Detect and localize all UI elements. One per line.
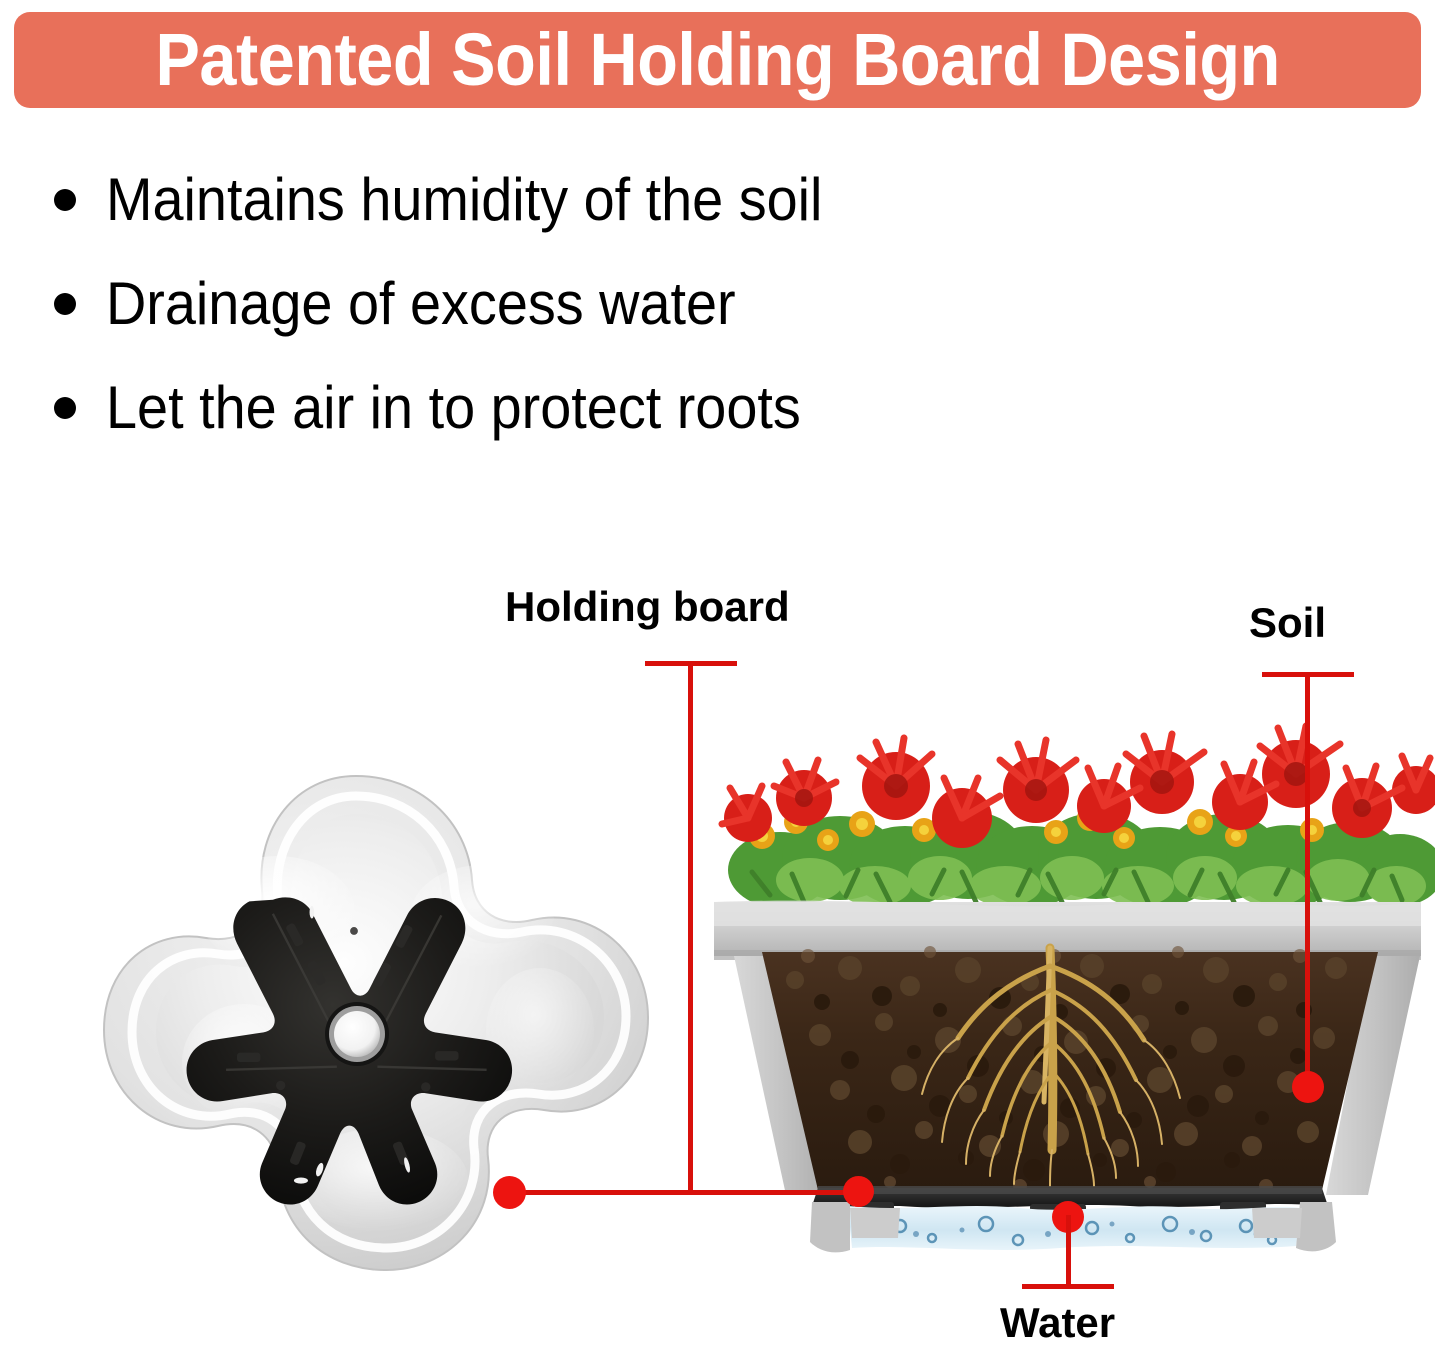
water-leader-tbar — [1022, 1284, 1114, 1289]
page-title: Patented Soil Holding Board Design — [155, 20, 1279, 100]
list-item: Maintains humidity of the soil — [40, 148, 1140, 252]
holding-board-marker-dot-right — [843, 1176, 874, 1207]
header-banner: Patented Soil Holding Board Design — [14, 12, 1421, 108]
list-item: Drainage of excess water — [40, 252, 1140, 356]
soil-marker-dot — [1292, 1071, 1324, 1103]
water-leader-vertical — [1066, 1215, 1071, 1287]
bullet-text: Maintains humidity of the soil — [106, 168, 822, 232]
list-item: Let the air in to protect roots — [40, 356, 1140, 460]
planter-top-view-image — [52, 762, 660, 1318]
drain-hole — [334, 1011, 380, 1057]
pot-base-foot-left — [850, 1208, 900, 1238]
callout-label-soil: Soil — [1249, 600, 1326, 646]
bullet-dot-icon — [54, 293, 76, 315]
holding-board-leader-vertical — [688, 661, 693, 1194]
pot-base-foot-right — [1252, 1208, 1302, 1238]
callout-label-holding-board: Holding board — [505, 584, 790, 630]
bullet-dot-icon — [54, 189, 76, 211]
infographic-page: Patented Soil Holding Board Design Maint… — [0, 0, 1435, 1368]
planter-cross-section-image — [700, 690, 1435, 1260]
bullet-dot-icon — [54, 397, 76, 419]
pot-base-tray — [810, 1202, 850, 1252]
holding-board-top-edge — [818, 1186, 1322, 1194]
bullet-text: Let the air in to protect roots — [106, 376, 801, 440]
callout-label-water: Water — [1000, 1300, 1115, 1346]
soil-layer — [762, 952, 1378, 1190]
soil-leader-vertical — [1305, 672, 1310, 1090]
flower-cluster — [722, 726, 1435, 908]
bullet-text: Drainage of excess water — [106, 272, 736, 336]
holding-board-leader-horizontal — [509, 1190, 861, 1195]
pot-base-tray-right — [1296, 1202, 1336, 1251]
holding-board-marker-dot-left — [493, 1176, 526, 1209]
feature-bullet-list: Maintains humidity of the soil Drainage … — [40, 148, 1140, 460]
